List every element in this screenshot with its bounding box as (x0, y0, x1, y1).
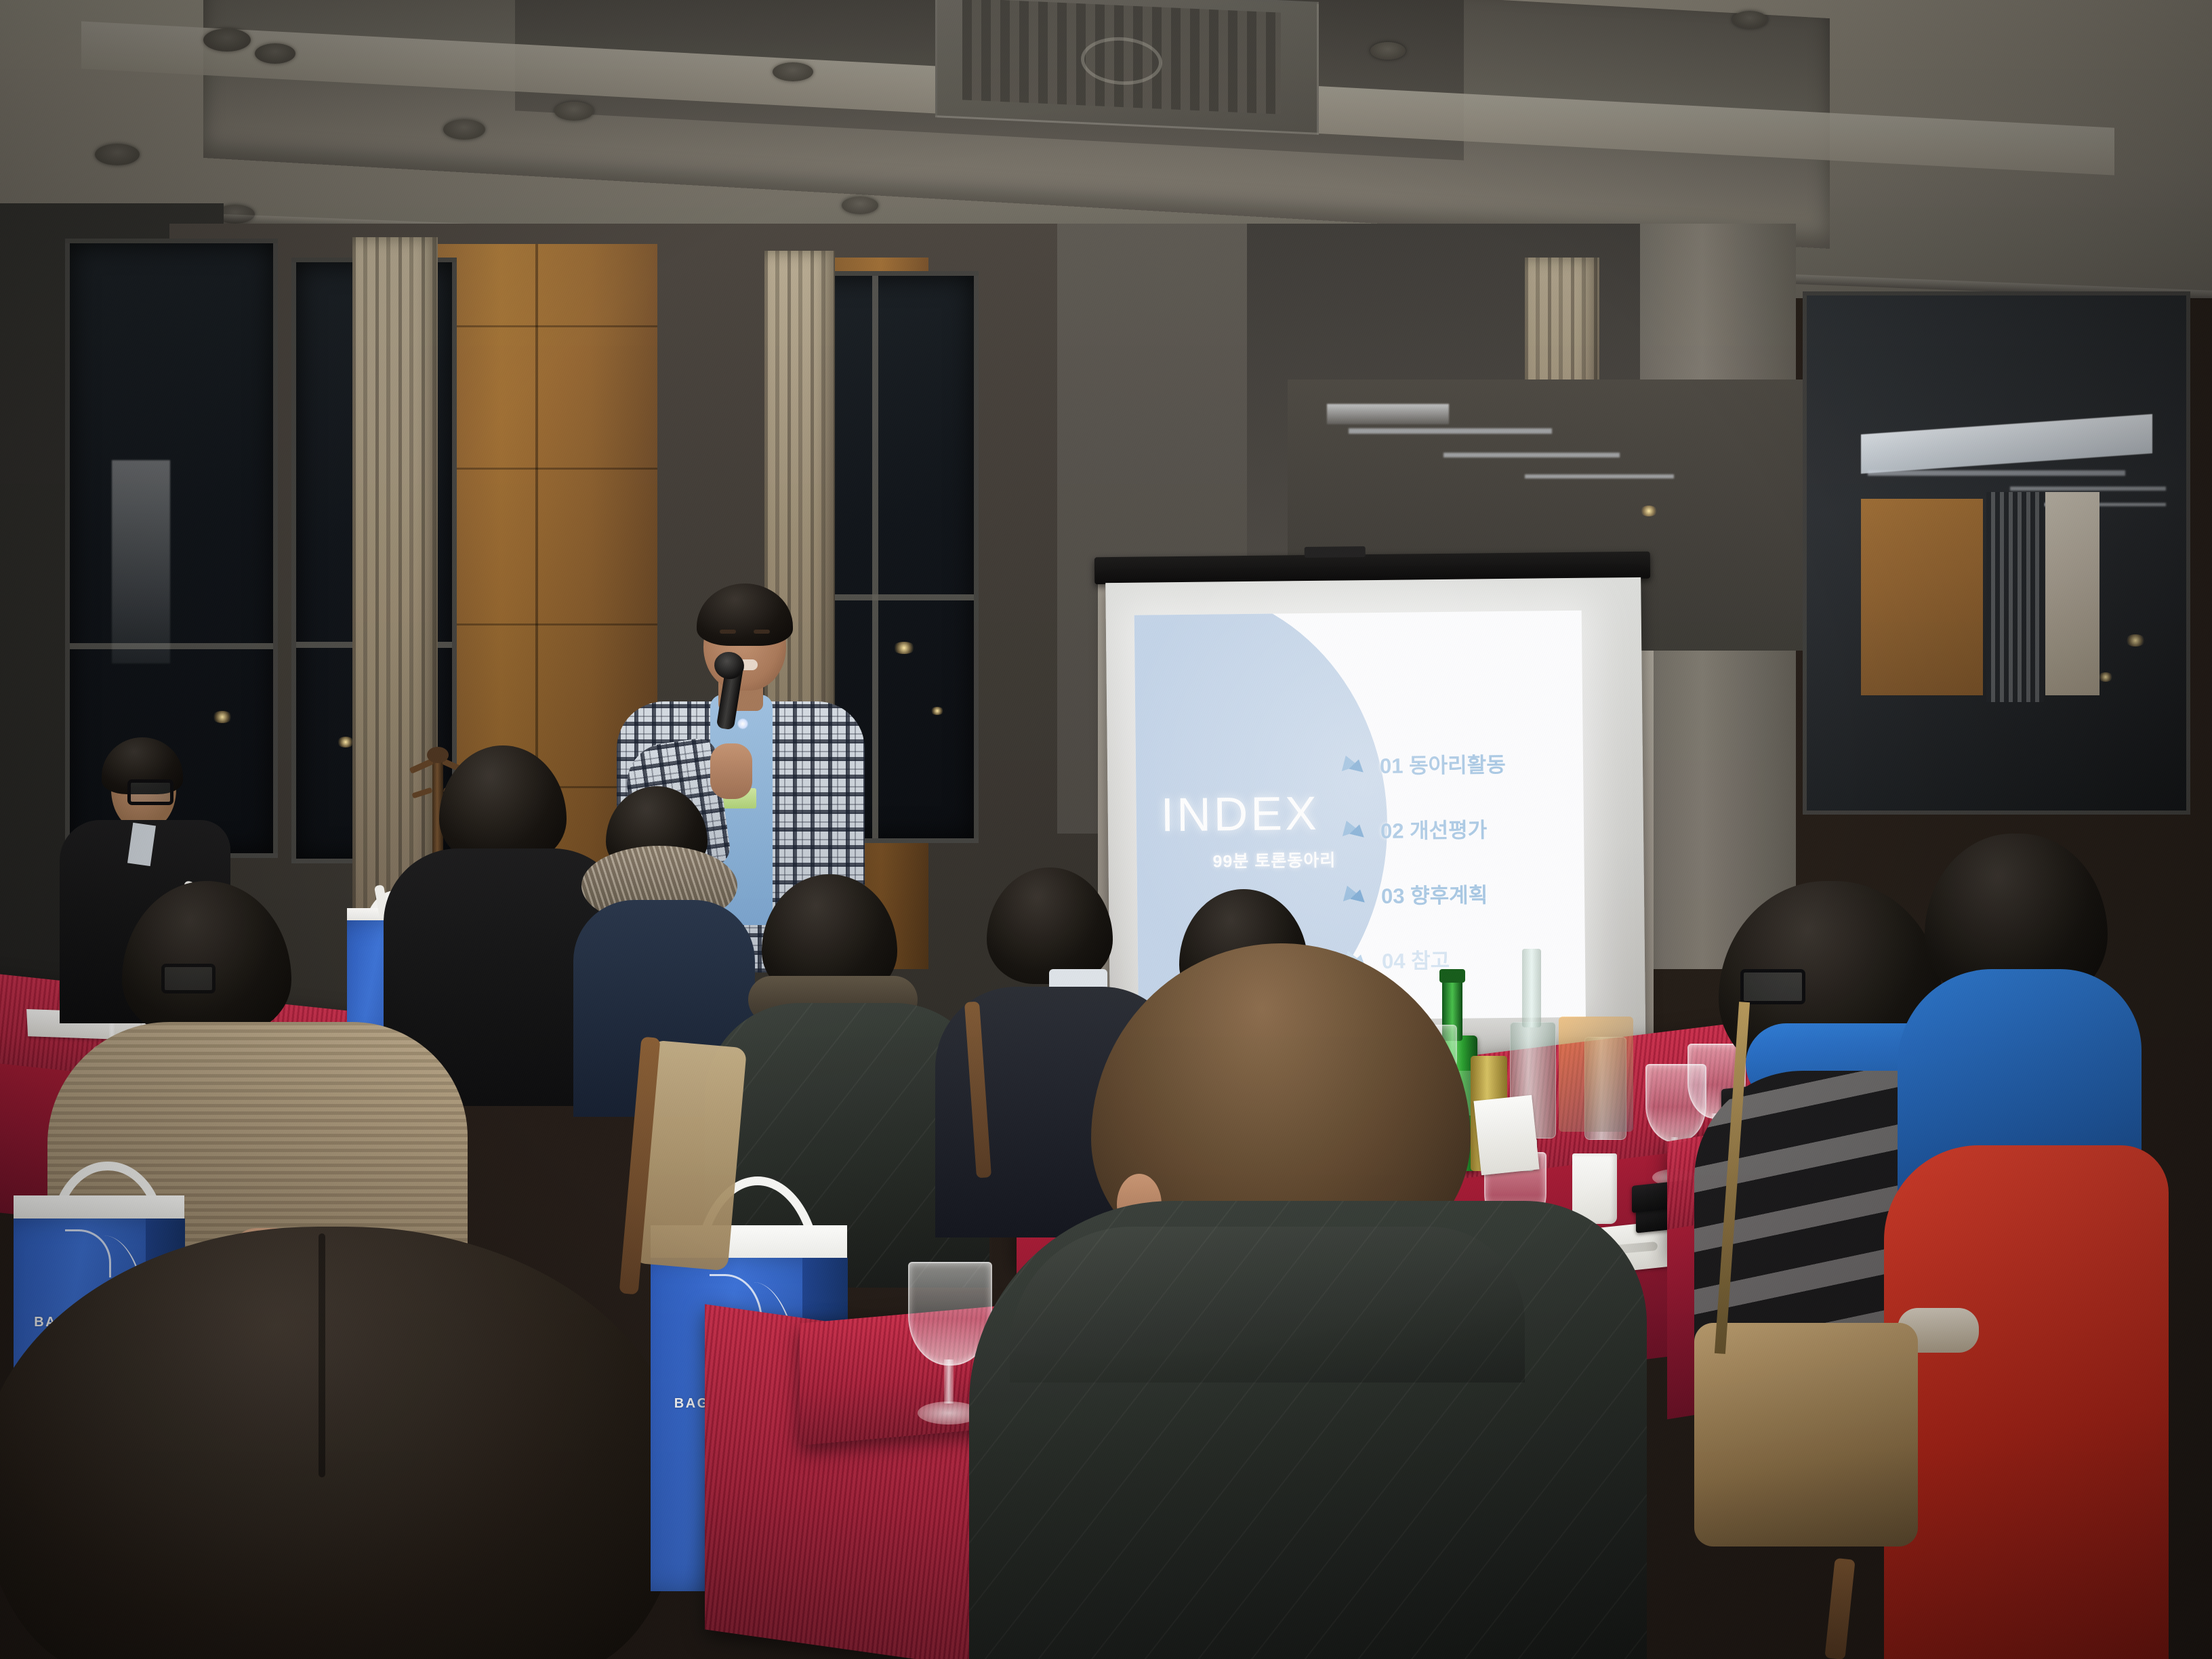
attendee-hair (122, 881, 291, 1036)
jacket-hood-fold (1010, 1227, 1525, 1382)
slide-bullet-icon (1338, 817, 1370, 840)
slide-index-item-2: 02 개선평가 (1338, 794, 1576, 862)
screen-pull-knob[interactable] (1305, 546, 1366, 558)
chair-leg (1824, 1558, 1855, 1659)
red-jacket-on-chair (1884, 1145, 2169, 1659)
microphone-indicator-light (737, 718, 748, 729)
downlight-icon (773, 62, 813, 81)
downlight-icon (95, 144, 140, 165)
eyeglasses-icon (127, 779, 173, 805)
slide-index-item-3: 03 향후계획 (1339, 859, 1577, 927)
downlight-icon (1732, 11, 1767, 28)
downlight-icon (203, 28, 251, 52)
interior-glass-partition (1803, 291, 2190, 815)
photo-scene: INDEX 99분 토론동아리 01 동아리활동 02 개선평가 03 향후계획 (0, 0, 2212, 1659)
eyeglasses-icon (1740, 969, 1805, 1004)
downlight-icon (1370, 42, 1406, 60)
attendee-brown-hair-padded-jacket (969, 943, 1647, 1659)
slide-index-label-2: 02 개선평가 (1380, 813, 1488, 844)
hair-part-line (319, 1233, 325, 1477)
slide-bullet-icon (1338, 752, 1369, 775)
eyeglasses-icon (161, 964, 216, 994)
downlight-icon (443, 119, 485, 140)
presenter-eye-right (754, 630, 770, 634)
presenter-eye-left (720, 630, 736, 634)
attendee-hair (0, 1227, 684, 1659)
downlight-icon (842, 197, 878, 214)
leather-bag (1694, 1323, 1918, 1547)
slide-index-item-1: 01 동아리활동 (1338, 729, 1576, 797)
attendee-foreground-head (0, 1227, 712, 1659)
attendee-hair (439, 745, 567, 865)
slide-title: INDEX (1160, 785, 1364, 842)
downlight-icon (554, 102, 594, 121)
downlight-icon (255, 43, 295, 64)
presenter-hair (697, 583, 793, 646)
slide-index-label-1: 01 동아리활동 (1380, 747, 1506, 779)
slide-index-label-3: 03 향후계획 (1381, 878, 1488, 909)
